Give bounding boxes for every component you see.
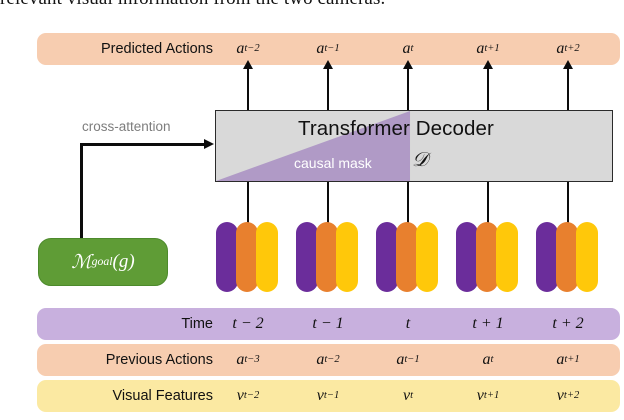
- cell-base: t − 2: [232, 315, 263, 333]
- token-pill-orange: [396, 222, 418, 292]
- token-group-1: [296, 222, 360, 292]
- visual-features-label: Visual Features: [37, 380, 223, 412]
- token-pill-yellow: [336, 222, 358, 292]
- transformer-decoder-box: Transformer Decoder causal mask 𝒟: [215, 110, 613, 182]
- token-pill-yellow: [496, 222, 518, 292]
- cell-base: a: [556, 351, 564, 369]
- cell-base: a: [556, 40, 564, 58]
- cell-base: v: [403, 387, 410, 405]
- previous-actions-cell: at: [452, 344, 524, 376]
- output-arrow-head-2: [403, 60, 413, 69]
- goal-module-box: ℳgoal(g): [38, 238, 168, 286]
- cell-base: v: [557, 387, 564, 405]
- causal-mask-label: causal mask: [294, 155, 372, 171]
- token-pill-orange: [316, 222, 338, 292]
- cell-base: t: [406, 315, 410, 333]
- time-cell: t + 1: [452, 308, 524, 340]
- cell-base: a: [483, 351, 491, 369]
- output-arrow-shaft-3: [487, 66, 490, 110]
- predicted-actions-label: Predicted Actions: [37, 33, 223, 65]
- cell-base: a: [476, 40, 484, 58]
- token-pill-orange: [476, 222, 498, 292]
- cell-base: a: [396, 351, 404, 369]
- cell-base: v: [477, 387, 484, 405]
- token-stem-4: [567, 182, 570, 224]
- time-row: Time t − 2t − 1tt + 1t + 2: [37, 308, 620, 340]
- token-pill-purple: [456, 222, 478, 292]
- token-pill-purple: [296, 222, 318, 292]
- cell-base: a: [236, 40, 244, 58]
- output-arrow-shaft-4: [567, 66, 570, 110]
- time-cell: t − 1: [292, 308, 364, 340]
- cross-attention-label: cross-attention: [82, 119, 171, 134]
- cell-base: t + 2: [552, 315, 583, 333]
- output-arrow-shaft-2: [407, 66, 410, 110]
- token-pill-purple: [216, 222, 238, 292]
- cell-base: a: [316, 351, 324, 369]
- output-arrow-shaft-0: [247, 66, 250, 110]
- token-stem-1: [327, 182, 330, 224]
- cell-base: t − 1: [312, 315, 343, 333]
- cell-base: a: [236, 351, 244, 369]
- time-cell: t + 2: [532, 308, 604, 340]
- output-arrow-head-4: [563, 60, 573, 69]
- token-pill-purple: [376, 222, 398, 292]
- visual-features-row: Visual Features vt−2vt−1vtvt+1vt+2: [37, 380, 620, 412]
- cell-base: a: [403, 40, 411, 58]
- token-group-0: [216, 222, 280, 292]
- token-pill-orange: [236, 222, 258, 292]
- paper-body-text: relevant visual information from the two…: [0, 0, 624, 10]
- token-stem-2: [407, 182, 410, 224]
- token-group-3: [456, 222, 520, 292]
- output-arrow-shaft-1: [327, 66, 330, 110]
- token-pill-yellow: [256, 222, 278, 292]
- previous-actions-cell: at+1: [532, 344, 604, 376]
- token-stem-3: [487, 182, 490, 224]
- cell-base: t + 1: [472, 315, 503, 333]
- previous-actions-row: Previous Actions at−3at−2at−1atat+1: [37, 344, 620, 376]
- token-pill-yellow: [416, 222, 438, 292]
- decoder-symbol: 𝒟: [412, 149, 428, 172]
- previous-actions-label: Previous Actions: [37, 344, 223, 376]
- decoder-title-wrap: Transformer Decoder: [216, 117, 612, 141]
- output-arrow-head-3: [483, 60, 493, 69]
- token-group-2: [376, 222, 440, 292]
- previous-actions-cell: at−2: [292, 344, 364, 376]
- decoder-title: Transformer Decoder: [298, 117, 494, 140]
- cell-base: v: [317, 387, 324, 405]
- visual-features-cell: vt+1: [452, 380, 524, 412]
- output-arrow-head-1: [323, 60, 333, 69]
- cell-base: v: [237, 387, 244, 405]
- token-stem-0: [247, 182, 250, 224]
- token-group-4: [536, 222, 600, 292]
- previous-actions-cell: at−1: [372, 344, 444, 376]
- output-arrow-head-0: [243, 60, 253, 69]
- token-pill-purple: [536, 222, 558, 292]
- token-pill-yellow: [576, 222, 598, 292]
- cross-attention-arrow-head: [204, 139, 214, 149]
- cell-base: a: [316, 40, 324, 58]
- time-cell: t − 2: [212, 308, 284, 340]
- previous-actions-cell: at−3: [212, 344, 284, 376]
- visual-features-cell: vt+2: [532, 380, 604, 412]
- cross-attention-line-horizontal: [80, 143, 206, 146]
- cross-attention-line-vertical: [80, 143, 83, 248]
- time-cell: t: [372, 308, 444, 340]
- visual-features-cell: vt−1: [292, 380, 364, 412]
- time-label: Time: [37, 308, 223, 340]
- token-pill-orange: [556, 222, 578, 292]
- goal-symbol-m: ℳ: [71, 251, 91, 274]
- goal-argument: (g): [113, 251, 135, 273]
- visual-features-cell: vt: [372, 380, 444, 412]
- visual-features-cell: vt−2: [212, 380, 284, 412]
- figure-canvas: relevant visual information from the two…: [0, 0, 624, 420]
